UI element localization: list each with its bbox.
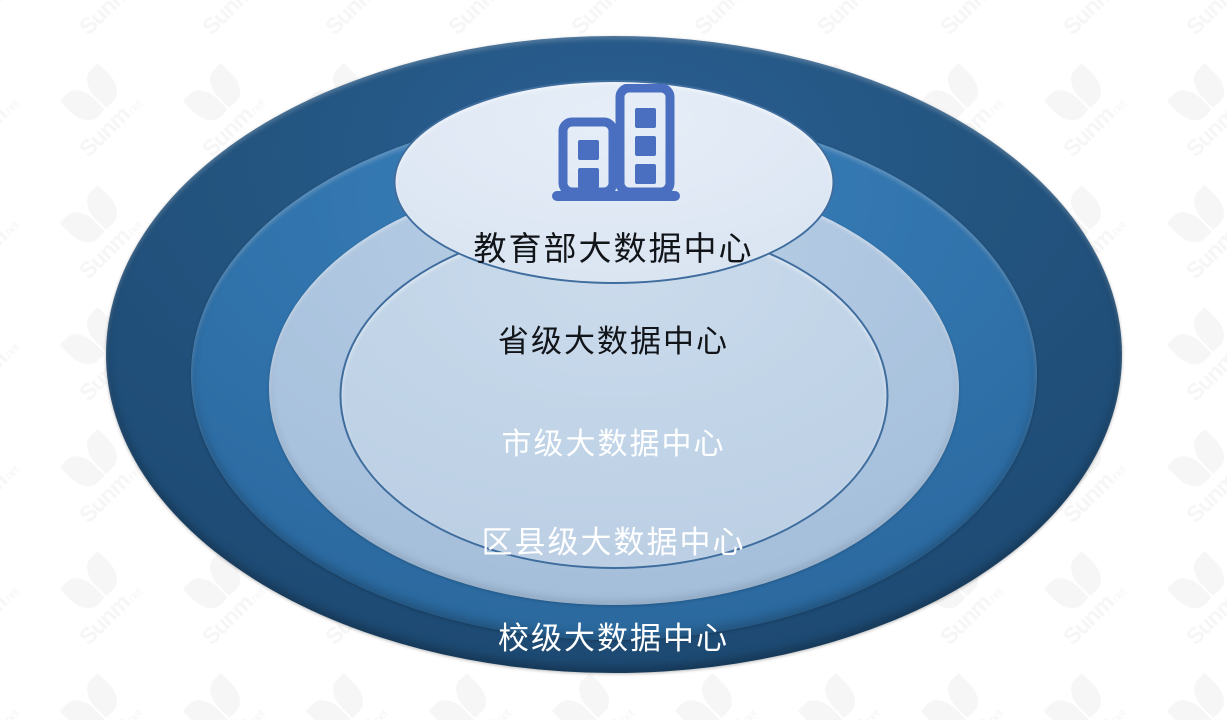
- label-ministry: 教育部大数据中心: [0, 222, 1227, 270]
- label-province: 省级大数据中心: [0, 316, 1227, 361]
- label-district: 区县级大数据中心: [0, 517, 1227, 562]
- label-school: 校级大数据中心: [0, 613, 1227, 658]
- label-city: 市级大数据中心: [0, 419, 1227, 463]
- hierarchy-diagram: 教育部大数据中心 省级大数据中心 市级大数据中心 区县级大数据中心 校级大数据中…: [0, 0, 1227, 720]
- building-icon: [544, 84, 684, 204]
